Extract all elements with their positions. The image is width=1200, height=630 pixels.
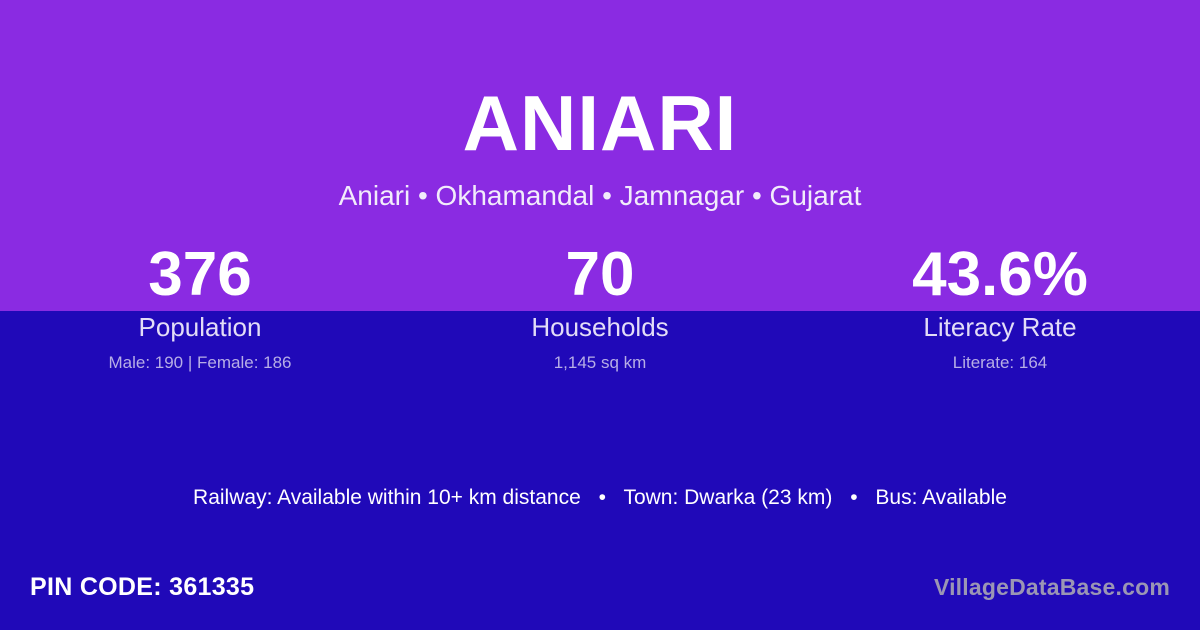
page-title: ANIARI — [0, 0, 1200, 162]
stat-sub-literacy-rate: Literate: 164 — [800, 354, 1200, 371]
stat-literacy-rate: 43.6% Literacy Rate Literate: 164 — [800, 242, 1200, 371]
village-info-card: ANIARI Aniari • Okhamandal • Jamnagar • … — [0, 0, 1200, 630]
pin-code: PIN CODE: 361335 — [30, 573, 254, 602]
card-header: ANIARI Aniari • Okhamandal • Jamnagar • … — [0, 0, 1200, 210]
card-footer: PIN CODE: 361335 VillageDataBase.com — [0, 544, 1200, 630]
nearest-town-info: Town: Dwarka (23 km) — [623, 486, 832, 509]
brand-watermark: VillageDataBase.com — [934, 574, 1170, 601]
breadcrumb: Aniari • Okhamandal • Jamnagar • Gujarat — [0, 162, 1200, 210]
stats-row: 376 Population Male: 190 | Female: 186 7… — [0, 242, 1200, 371]
stat-label-households: Households — [400, 314, 800, 340]
stat-sub-population: Male: 190 | Female: 186 — [0, 354, 400, 371]
transport-info: Railway: Available within 10+ km distanc… — [0, 484, 1200, 511]
railway-info: Railway: Available within 10+ km distanc… — [193, 486, 581, 509]
stat-value-households: 70 — [400, 242, 800, 309]
stat-sub-households: 1,145 sq km — [400, 354, 800, 371]
stat-households: 70 Households 1,145 sq km — [400, 242, 800, 371]
stat-label-literacy-rate: Literacy Rate — [800, 314, 1200, 340]
bus-info: Bus: Available — [875, 486, 1007, 509]
stat-value-population: 376 — [0, 242, 400, 309]
bullet-separator-icon: • — [587, 484, 618, 511]
stat-population: 376 Population Male: 190 | Female: 186 — [0, 242, 400, 371]
stat-label-population: Population — [0, 314, 400, 340]
bullet-separator-icon: • — [838, 484, 869, 511]
stat-value-literacy-rate: 43.6% — [800, 242, 1200, 309]
